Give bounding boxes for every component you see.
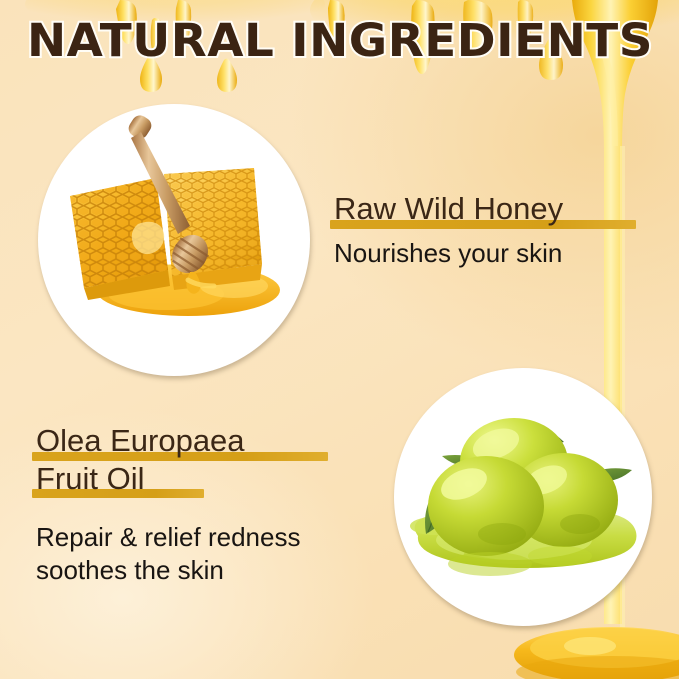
green-olives-in-oil-photo [394, 368, 652, 626]
ingredient-olive-heading-line-1: Olea Europaea [36, 424, 245, 462]
description-line: Nourishes your skin [334, 237, 646, 270]
ingredient-olive-heading-line-2: Fruit Oil [36, 462, 145, 500]
honeycomb-illustration [38, 104, 310, 376]
ingredient-olive-description: Repair & relief redness soothes the skin [36, 521, 366, 587]
olive-fruit-front [428, 456, 544, 556]
description-line: Repair & relief redness [36, 521, 366, 554]
olives-illustration [394, 368, 652, 626]
ingredient-olive-heading-text-1: Olea Europaea [36, 423, 245, 458]
page-title-text: NATURAL INGREDIENTS [27, 14, 653, 67]
ingredient-honey-heading-text: Raw Wild Honey [334, 191, 563, 226]
ingredient-olive-heading-text-2: Fruit Oil [36, 461, 145, 496]
ingredient-honey-info: Raw Wild Honey Nourishes your skin [334, 192, 646, 269]
page-title: NATURAL INGREDIENTS [0, 14, 679, 67]
ingredient-honey-heading: Raw Wild Honey [334, 192, 563, 230]
ingredient-olive-info: Olea Europaea Fruit Oil Repair & relief … [36, 424, 366, 587]
description-line: soothes the skin [36, 554, 366, 587]
infographic-canvas: NATURAL INGREDIENTS [0, 0, 679, 679]
honeycomb-block-front [70, 178, 170, 300]
ingredient-honey-description: Nourishes your skin [334, 237, 646, 270]
honey-pool-bottom [514, 627, 679, 679]
honeycomb-with-dipper-photo [38, 104, 310, 376]
